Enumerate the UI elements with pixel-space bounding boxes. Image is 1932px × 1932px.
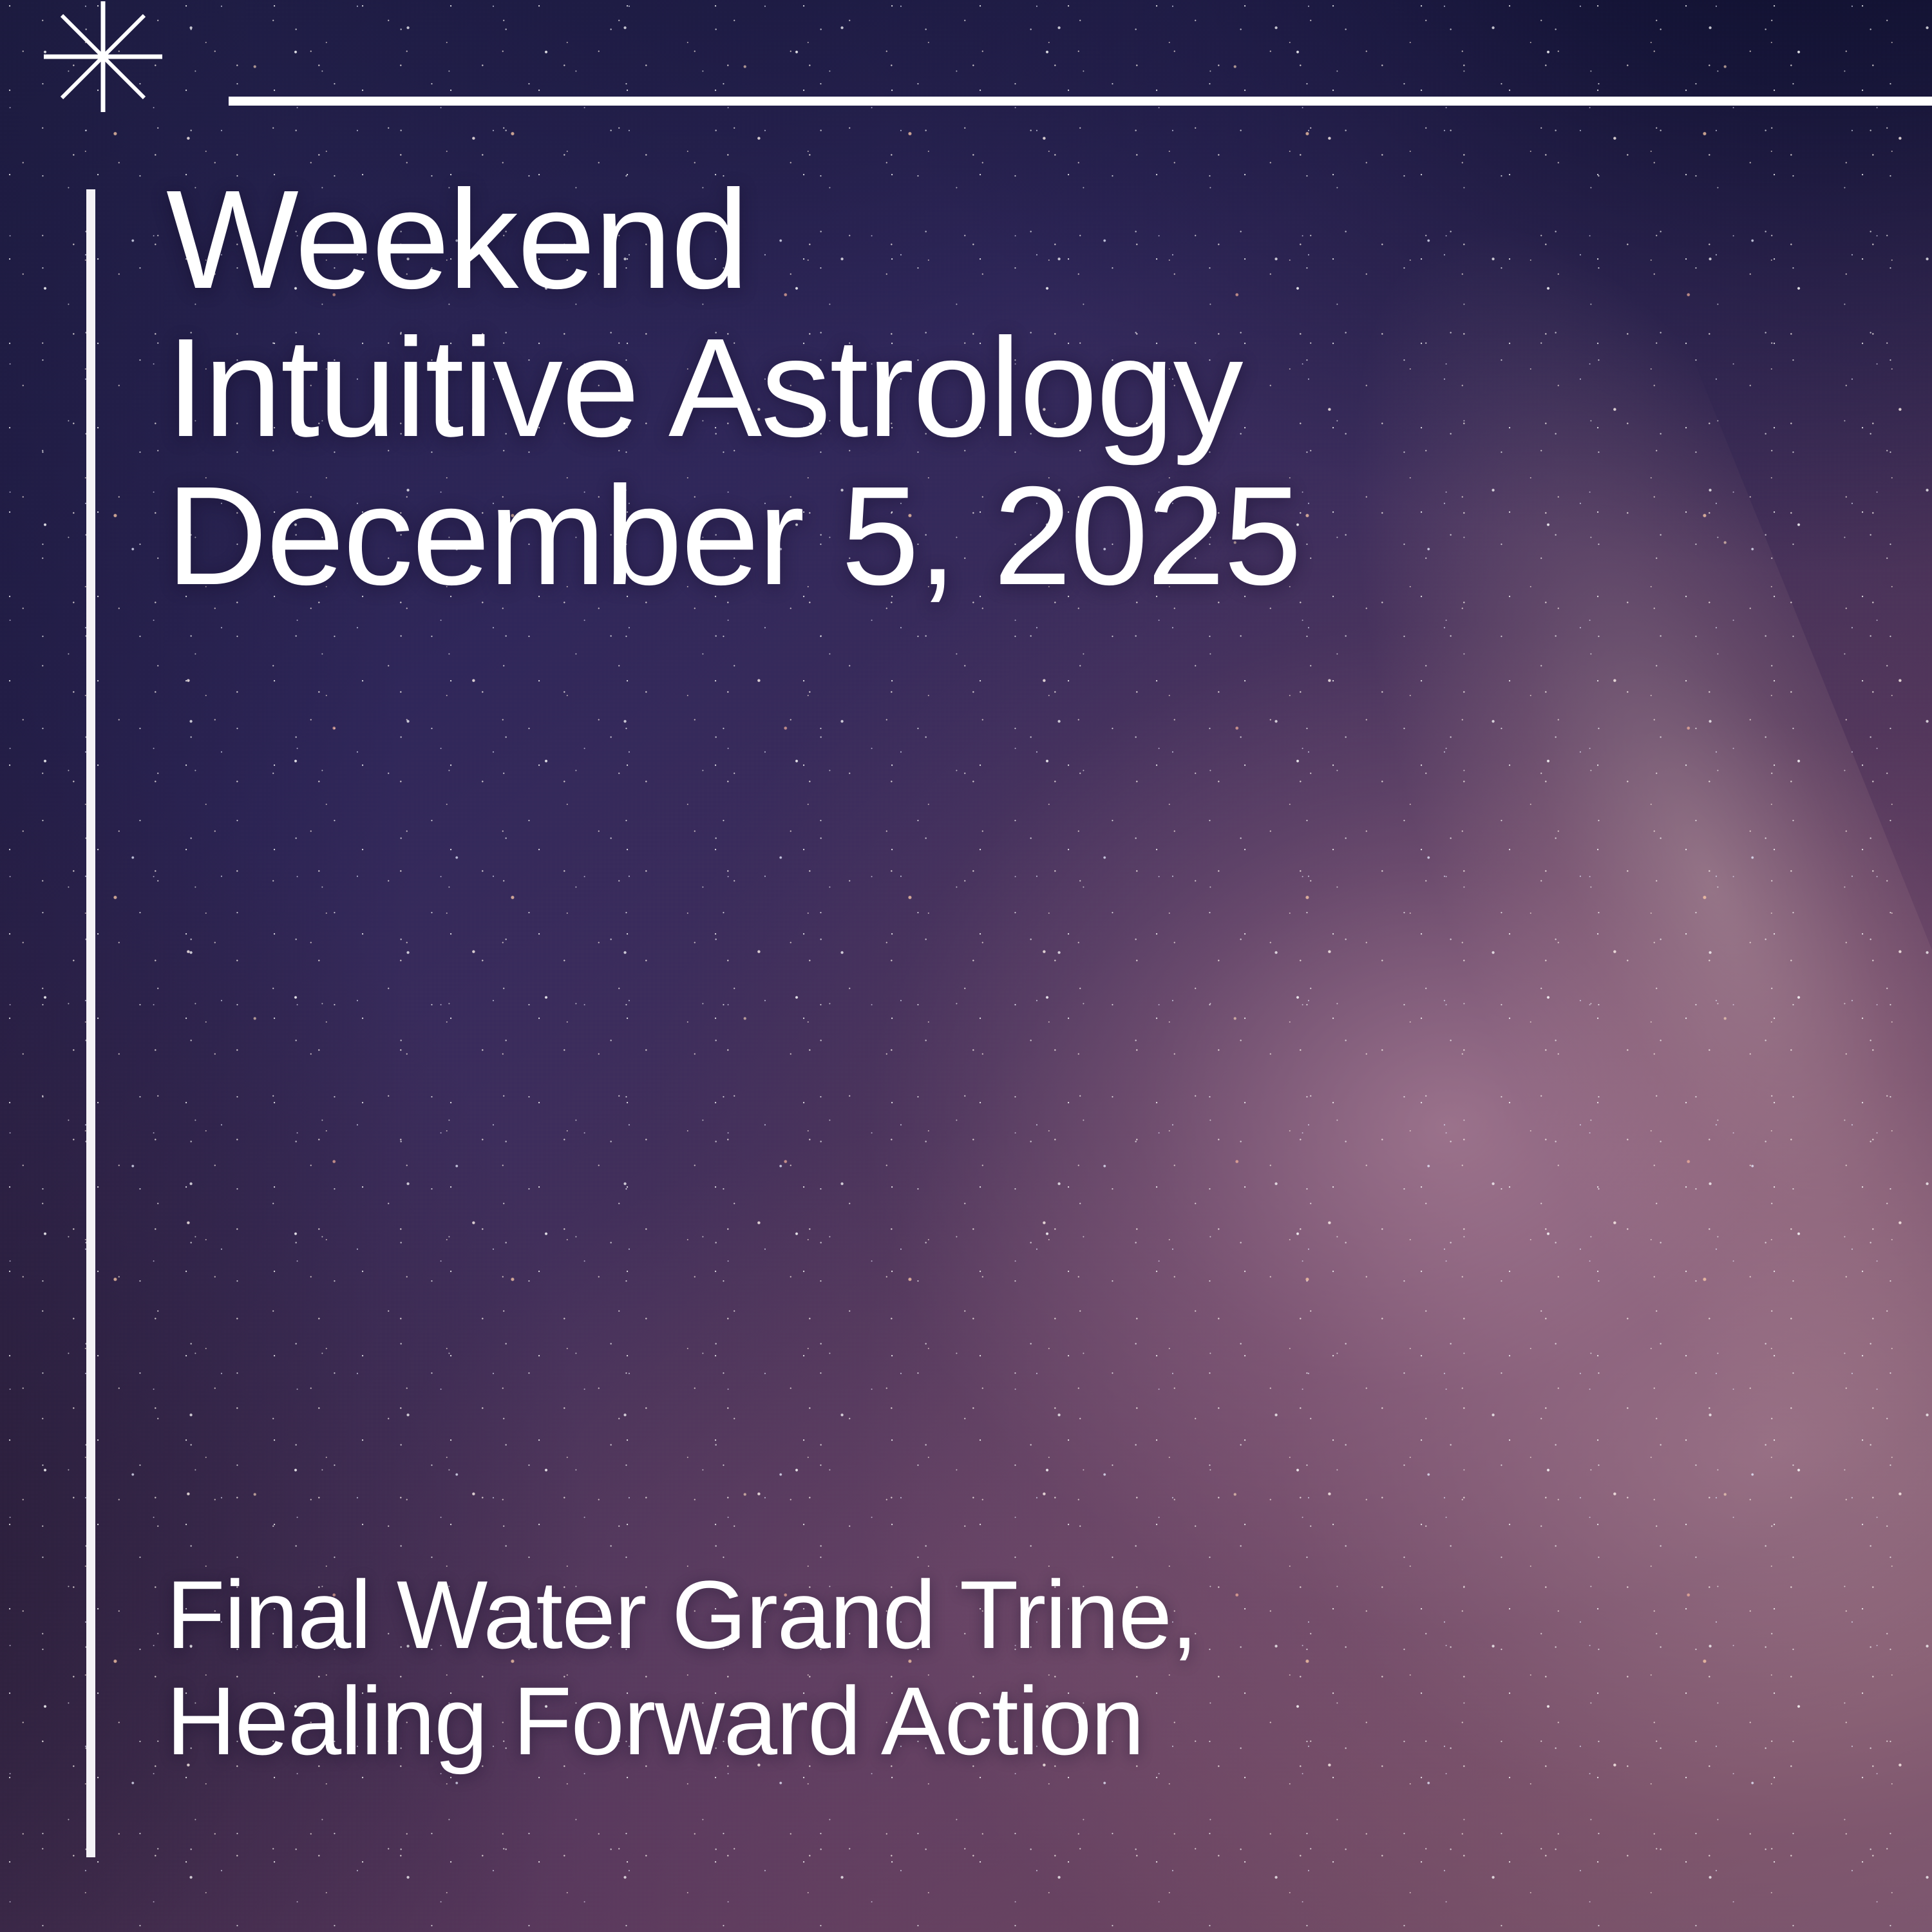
title-line-2: Intuitive Astrology: [166, 314, 1932, 462]
left-vertical-rule: [86, 189, 95, 1857]
title-block: Weekend Intuitive Astrology December 5, …: [166, 166, 1932, 611]
top-horizontal-rule: [229, 97, 1932, 106]
subtitle-line-2: Healing Forward Action: [166, 1668, 1905, 1774]
subtitle-line-1: Final Water Grand Trine,: [166, 1562, 1905, 1668]
podcast-cover-art: Weekend Intuitive Astrology December 5, …: [0, 0, 1932, 1932]
subtitle-block: Final Water Grand Trine, Healing Forward…: [166, 1562, 1905, 1774]
title-line-1: Weekend: [166, 166, 1932, 314]
sparkle-star-icon: [26, 0, 180, 134]
title-line-3: December 5, 2025: [166, 462, 1932, 611]
